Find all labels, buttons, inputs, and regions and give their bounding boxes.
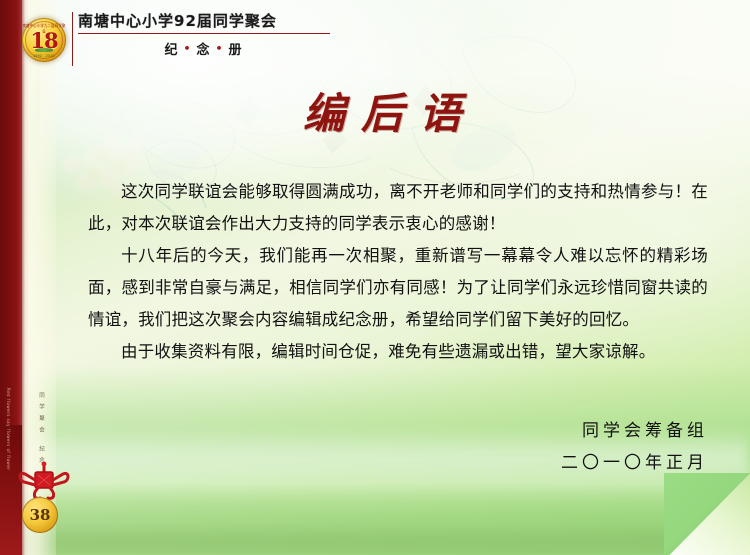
- chinese-knot-icon: [16, 458, 72, 502]
- subtitle-char-2: 念: [196, 43, 211, 58]
- paragraph-2: 十八年后的今天，我们能再一次相聚，重新谱写一幕幕令人难以忘怀的精彩场面，感到非常…: [88, 240, 708, 336]
- badge-leaf-icon: [35, 48, 53, 52]
- page-curl-corner: [664, 473, 750, 555]
- book-subtitle: 纪•念•册: [78, 39, 330, 58]
- header-title-block: 南塘中心小学92届同学聚会 纪•念•册: [78, 13, 408, 58]
- header-horizontal-rule: [78, 33, 330, 34]
- signature-organization: 同学会筹备组: [448, 415, 708, 447]
- page-body-text: 这次同学联谊会能够取得圆满成功，离不开老师和同学们的支持和热情参与！在此，对本次…: [88, 176, 708, 368]
- book-title: 南塘中心小学92届同学聚会: [78, 13, 408, 30]
- subtitle-char-3: 册: [229, 43, 244, 58]
- paragraph-3: 由于收集资料有限，编辑时间仓促，难免有些遗漏或出错，望大家谅解。: [88, 336, 708, 368]
- subtitle-char-1: 纪: [164, 43, 179, 58]
- anniversary-badge-icon: 南塘中心小学九二届同学聚会 18 1992 - 2010: [22, 18, 66, 62]
- book-header: 南塘中心小学九二届同学聚会 18 1992 - 2010 南塘中心小学92届同学…: [0, 0, 420, 80]
- spine-caption-latin: Red flowers say flowers of flower: [6, 388, 11, 470]
- page-number-badge: 38: [22, 497, 58, 533]
- page-title: 编后语: [265, 80, 515, 141]
- badge-arc-bottom-text: 1992 - 2010: [22, 54, 66, 58]
- subtitle-separator-2: •: [216, 42, 225, 55]
- header-vertical-rule: [72, 12, 73, 66]
- paragraph-1: 这次同学联谊会能够取得圆满成功，离不开老师和同学们的支持和热情参与！在此，对本次…: [88, 176, 708, 240]
- subtitle-separator-1: •: [183, 42, 192, 55]
- background-bottom-shade: [0, 521, 750, 555]
- commemorative-book-page: Red flowers say flowers of flower 同学聚会 纪…: [0, 0, 750, 555]
- signature-block: 同学会筹备组 二〇一〇年正月: [448, 415, 708, 479]
